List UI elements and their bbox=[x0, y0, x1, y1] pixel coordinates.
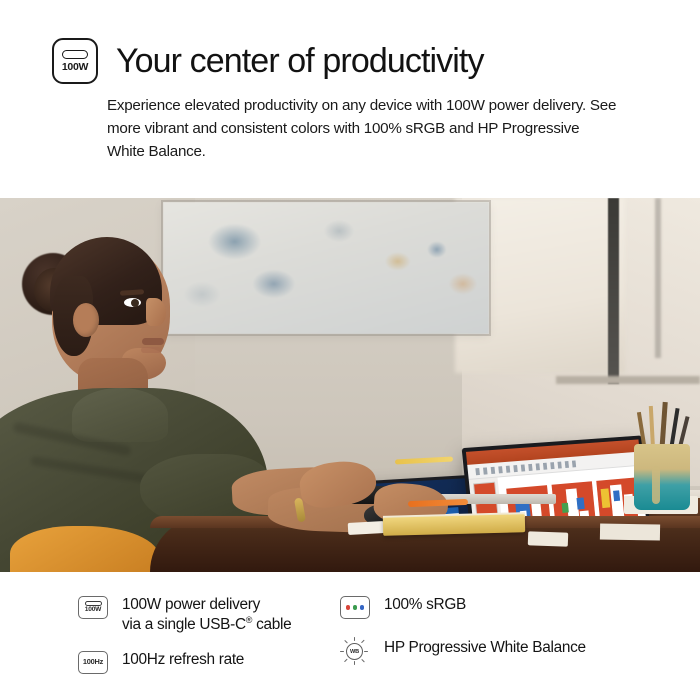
feature-column-left: 100W 100W power delivery via a single US… bbox=[78, 594, 348, 692]
pupil bbox=[131, 299, 139, 307]
nose bbox=[146, 298, 166, 326]
feature-item-srgb: 100% sRGB bbox=[340, 594, 660, 619]
header-section: 100W Your center of productivity Experie… bbox=[0, 0, 700, 198]
green-dot bbox=[353, 605, 357, 609]
white-balance-icon: WB bbox=[340, 639, 370, 662]
feature-label-white-balance: HP Progressive White Balance bbox=[384, 637, 586, 658]
feature-label-power-delivery: 100W power delivery via a single USB-C® … bbox=[122, 594, 291, 635]
feature-line-2: via a single USB-C bbox=[122, 616, 246, 633]
usb-c-100w-icon: 100W bbox=[52, 38, 98, 84]
usb-c-connector-shape bbox=[85, 601, 102, 606]
feature-column-right: 100% sRGB WB bbox=[340, 594, 660, 680]
upper-lip bbox=[142, 338, 164, 345]
refresh-rate-100hz-icon: 100Hz bbox=[78, 651, 108, 674]
paper-note bbox=[528, 531, 568, 546]
page-title: Your center of productivity bbox=[116, 44, 484, 78]
hero-photo bbox=[0, 198, 700, 572]
feature-item-refresh-rate: 100Hz 100Hz refresh rate bbox=[78, 649, 348, 674]
notebook bbox=[383, 514, 525, 536]
window-sill bbox=[556, 376, 700, 384]
pencil-cup bbox=[634, 444, 690, 510]
painting-frame bbox=[161, 200, 491, 336]
lower-lip bbox=[141, 347, 161, 353]
window-frame-secondary bbox=[655, 198, 661, 358]
rgb-dots bbox=[346, 605, 364, 609]
usb-c-icon-label: 100W bbox=[62, 62, 88, 73]
usb-c-icon-label: 100W bbox=[85, 607, 101, 614]
window-frame bbox=[608, 198, 619, 384]
white-balance-circle: WB bbox=[346, 643, 363, 660]
feature-item-power-delivery: 100W 100W power delivery via a single US… bbox=[78, 594, 348, 635]
usb-c-100w-icon: 100W bbox=[78, 596, 108, 619]
usb-c-connector-shape bbox=[62, 50, 88, 59]
cup-glaze-drip bbox=[652, 466, 660, 504]
shirt-collar bbox=[72, 388, 168, 442]
red-dot bbox=[346, 605, 350, 609]
feature-line-1: 100W power delivery bbox=[122, 596, 260, 613]
paper-sheet bbox=[600, 523, 660, 540]
white-balance-icon-label: WB bbox=[350, 649, 359, 655]
paper-note bbox=[348, 521, 385, 535]
hero-heading-row: 100W Your center of productivity bbox=[52, 38, 484, 84]
product-feature-page: 100W Your center of productivity Experie… bbox=[0, 0, 700, 700]
feature-label-refresh-rate: 100Hz refresh rate bbox=[122, 649, 244, 670]
feature-item-white-balance: WB HP Progressive White Balance bbox=[340, 637, 660, 662]
feature-list-section: 100W 100W power delivery via a single US… bbox=[0, 572, 700, 700]
feature-label-srgb: 100% sRGB bbox=[384, 594, 466, 615]
feature-line-2-tail: cable bbox=[252, 616, 291, 633]
hero-description: Experience elevated productivity on any … bbox=[107, 94, 619, 163]
ear bbox=[73, 303, 99, 337]
srgb-color-icon bbox=[340, 596, 370, 619]
refresh-rate-icon-label: 100Hz bbox=[83, 658, 103, 665]
blue-dot bbox=[360, 605, 364, 609]
